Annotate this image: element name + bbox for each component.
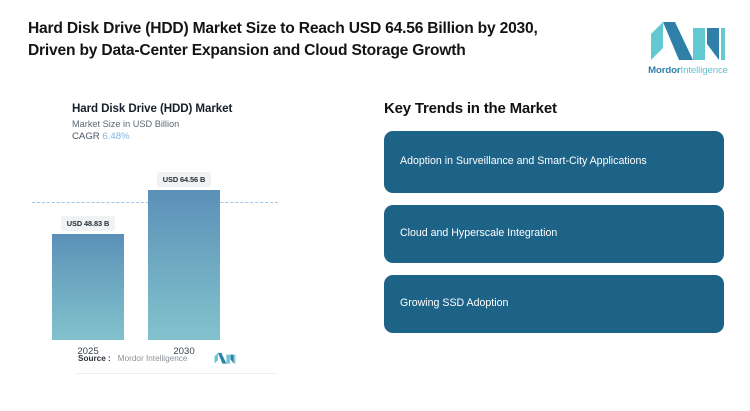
- chart-plot-area: USD 48.83 B USD 64.56 B: [30, 158, 278, 340]
- trend-card-1-label: Adoption in Surveillance and Smart-City …: [400, 154, 647, 170]
- key-trends-heading: Key Trends in the Market: [384, 100, 724, 117]
- chart-bars: USD 48.83 B USD 64.56 B: [30, 158, 278, 340]
- chart-panel-divider: [76, 373, 278, 374]
- chart-source-label: Source :: [78, 354, 111, 363]
- trend-card-2-label: Cloud and Hyperscale Integration: [400, 226, 557, 242]
- trend-card-2[interactable]: Cloud and Hyperscale Integration: [384, 205, 724, 263]
- key-trends-section: Key Trends in the Market Adoption in Sur…: [384, 100, 724, 345]
- mordor-intelligence-small-logo-icon: [214, 352, 236, 364]
- chart-cagr-label: CAGR: [72, 131, 100, 142]
- brand-word-secondary: Intelligence: [681, 65, 728, 76]
- trend-card-3[interactable]: Growing SSD Adoption: [384, 275, 724, 333]
- brand-logo: MordorIntelligence: [640, 18, 736, 76]
- chart-bar-2030: [148, 190, 220, 340]
- chart-source-row: Source : Mordor Intelligence: [30, 352, 278, 364]
- market-chart-panel: Hard Disk Drive (HDD) Market Market Size…: [18, 92, 290, 382]
- chart-title: Hard Disk Drive (HDD) Market: [72, 102, 278, 115]
- chart-subtitle: Market Size in USD Billion: [72, 119, 278, 129]
- chart-bar-group-2030: USD 64.56 B: [148, 169, 220, 340]
- trend-card-1[interactable]: Adoption in Surveillance and Smart-City …: [384, 131, 724, 193]
- chart-value-label-2030: USD 64.56 B: [157, 172, 211, 187]
- chart-bar-2025: [52, 234, 124, 340]
- trend-card-3-label: Growing SSD Adoption: [400, 296, 508, 312]
- page-header: Hard Disk Drive (HDD) Market Size to Rea…: [0, 0, 750, 88]
- mordor-intelligence-logo-icon: [649, 20, 727, 60]
- brand-wordmark: MordorIntelligence: [648, 65, 728, 76]
- chart-source-name: Mordor Intelligence: [118, 354, 188, 363]
- chart-bar-group-2025: USD 48.83 B: [52, 213, 124, 340]
- brand-word-primary: Mordor: [648, 65, 680, 76]
- chart-cagr: CAGR 6.48%: [72, 131, 278, 142]
- chart-cagr-value: 6.48%: [102, 131, 129, 142]
- chart-value-label-2025: USD 48.83 B: [61, 216, 115, 231]
- page-title: Hard Disk Drive (HDD) Market Size to Rea…: [28, 18, 588, 62]
